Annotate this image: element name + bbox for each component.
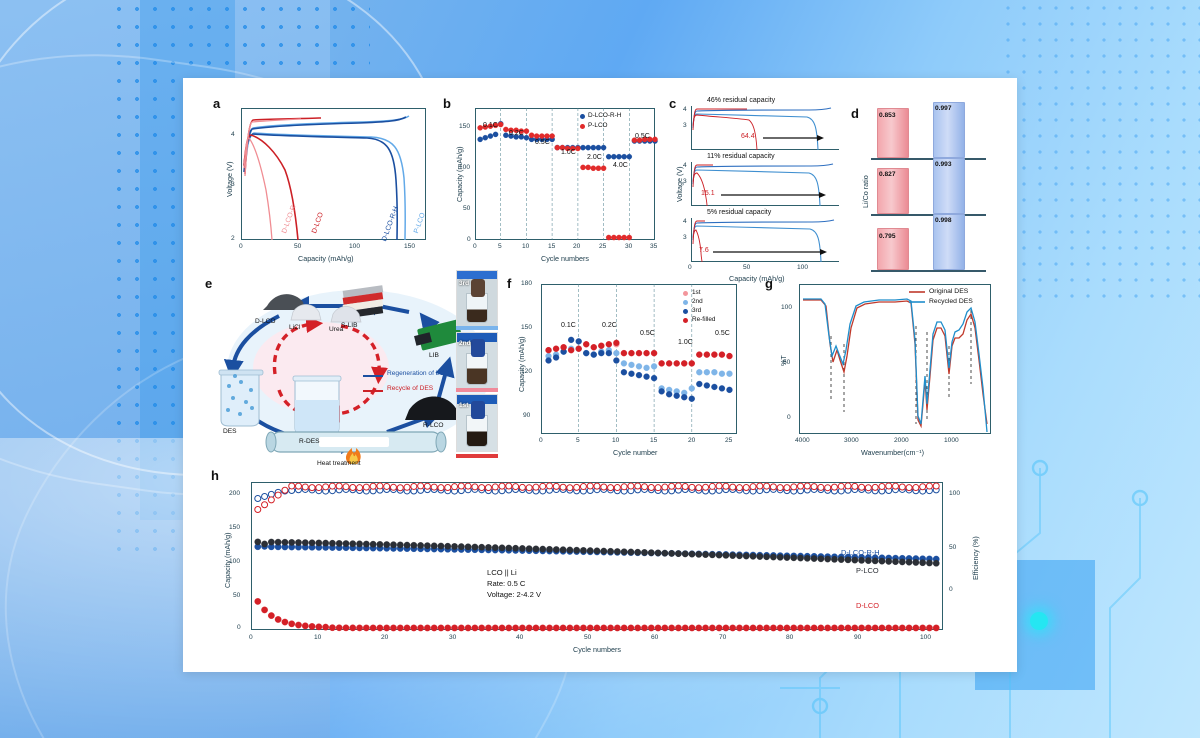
panel-d-bar-blue-1-value: 0.997 bbox=[935, 105, 952, 112]
panel-e-legend-line-regeneration bbox=[363, 375, 383, 377]
panel-h-label: h bbox=[211, 468, 219, 483]
panel-g-label: g bbox=[765, 276, 773, 291]
panel-c-xtick-50: 50 bbox=[743, 264, 750, 271]
panel-b-rate-4.0C: 4.0C bbox=[613, 162, 628, 169]
panel-e-node-s-lib: S-LIB bbox=[341, 322, 358, 329]
panel-f-rate-0.2C: 0.2C bbox=[602, 322, 617, 329]
panel-e-legend-regeneration: Regeneration of LCO bbox=[387, 370, 449, 377]
panel-h-series-label-d-lco-r-h: D-LCO-R-H bbox=[841, 548, 880, 557]
panel-d-label: d bbox=[851, 106, 859, 121]
panel-a: a 4 3 2 0 50 100 150 Capacity (mAh/g) Vo… bbox=[201, 92, 441, 272]
panel-b-xtick-25: 25 bbox=[599, 243, 606, 250]
panel-f-xtick-25: 25 bbox=[725, 437, 732, 444]
panel-e-heat-treatment-label: Heat treatment bbox=[317, 460, 361, 467]
panel-h-ytick-right-50: 50 bbox=[949, 544, 956, 551]
panel-f-legend-dot-1st bbox=[683, 291, 688, 296]
panel-c-sub1-ytick-3: 3 bbox=[683, 122, 687, 129]
panel-c-sub3-annotation: 5% residual capacity bbox=[707, 209, 771, 216]
panel-d-row1-baseline bbox=[871, 158, 986, 160]
panel-c-sub1-value: 64.4 bbox=[741, 133, 755, 140]
panel-b-plot bbox=[475, 108, 655, 240]
photo-vial-3rd bbox=[456, 270, 498, 328]
panel-d-bar-blue-2-value: 0.993 bbox=[935, 161, 952, 168]
panel-h-annotation-cell: LCO || Li bbox=[487, 568, 517, 577]
panel-f-legend-3rd: 3rd bbox=[692, 307, 701, 314]
panel-c-yaxis-label: Voltage (V) bbox=[675, 166, 684, 202]
panel-b-label: b bbox=[443, 96, 451, 111]
panel-d-bar-red-1-value: 0.853 bbox=[879, 112, 896, 119]
photo-vial-2nd-tag: 2nd bbox=[459, 340, 471, 347]
panel-f-legend-2nd: 2nd bbox=[692, 298, 703, 305]
panel-c-sub3-value: 7.6 bbox=[699, 247, 709, 254]
panel-g-plot bbox=[799, 284, 991, 434]
panel-b-xtick-15: 15 bbox=[548, 243, 555, 250]
panel-g-xtick-1000: 1000 bbox=[944, 437, 959, 444]
panel-b-legend-p-lco: P-LCO bbox=[588, 122, 608, 129]
panel-h-ytick-right-100: 100 bbox=[949, 490, 960, 497]
panel-h-ytick-50: 50 bbox=[233, 592, 240, 599]
panel-b-xtick-35: 35 bbox=[650, 243, 657, 250]
photo-strip-accent-blue bbox=[456, 326, 498, 330]
panel-b-xtick-5: 5 bbox=[498, 243, 502, 250]
panel-h-xtick-80: 80 bbox=[786, 634, 793, 641]
panel-b-yaxis-label: Capacity (mAh/g) bbox=[455, 146, 464, 202]
panel-c-label: c bbox=[669, 96, 676, 111]
panel-a-ytick-4: 4 bbox=[231, 131, 235, 138]
panel-f-ytick-180: 180 bbox=[521, 280, 532, 287]
panel-e-node-des: DES bbox=[223, 428, 237, 435]
panel-h-yaxis-right-label: Efficiency (%) bbox=[971, 536, 980, 580]
panel-f-xtick-20: 20 bbox=[688, 437, 695, 444]
panel-f-xtick-5: 5 bbox=[576, 437, 580, 444]
panel-d-row3-baseline bbox=[871, 270, 986, 272]
panel-a-plot bbox=[241, 108, 426, 240]
panel-c-sub2-value: 15.1 bbox=[701, 190, 715, 197]
panel-e-node-r-des: R-DES bbox=[299, 438, 320, 445]
panel-a-xtick-50: 50 bbox=[294, 243, 301, 250]
panel-b-xtick-30: 30 bbox=[625, 243, 632, 250]
panel-c-sub3-curves bbox=[691, 218, 839, 262]
panel-f-rate-1.0C: 1.0C bbox=[678, 339, 693, 346]
panel-h-xtick-0: 0 bbox=[249, 634, 253, 641]
panel-c-sub1-ytick-4: 4 bbox=[683, 106, 687, 113]
panel-h-xtick-90: 90 bbox=[854, 634, 861, 641]
panel-h-ytick-200: 200 bbox=[229, 490, 240, 497]
photo-vial-3rd-tag: 3rd bbox=[459, 280, 469, 287]
panel-b-xtick-10: 10 bbox=[522, 243, 529, 250]
panel-f-plot bbox=[541, 284, 737, 434]
panel-g-xaxis-label: Wavenumber(cm⁻¹) bbox=[861, 448, 924, 457]
panel-a-ytick-2: 2 bbox=[231, 235, 235, 242]
panel-e-photo-strip: 3rd 2nd 1st bbox=[456, 270, 498, 458]
background-glow-node bbox=[1030, 612, 1048, 630]
panel-b-ytick-150: 150 bbox=[459, 123, 470, 130]
panel-h-series-label-d-lco: D-LCO bbox=[856, 601, 879, 610]
panel-b-xtick-20: 20 bbox=[573, 243, 580, 250]
panel-c-sub1-annotation: 46% residual capacity bbox=[707, 97, 775, 104]
panel-e-legend-line-recycle bbox=[363, 390, 383, 392]
panel-e-node-urea: Urea bbox=[329, 326, 343, 333]
panel-f-label: f bbox=[507, 276, 511, 291]
panel-b-rate-0.1C: 0.1C bbox=[483, 122, 498, 129]
panel-h-xtick-60: 60 bbox=[651, 634, 658, 641]
panel-c-subplot-3: 4 3 5% residual capacity 7.6 bbox=[691, 218, 839, 262]
photo-vial-1st-tag: 1st bbox=[459, 402, 468, 409]
panel-h-xtick-30: 30 bbox=[449, 634, 456, 641]
photo-strip-accent-red bbox=[456, 454, 498, 458]
panel-f-xtick-0: 0 bbox=[539, 437, 543, 444]
panel-b-legend-dot-p-lco bbox=[580, 124, 585, 129]
panel-b-rate-0.5C: 0.5C bbox=[535, 139, 550, 146]
panel-f-legend-dot-3rd bbox=[683, 309, 688, 314]
panel-a-xtick-150: 150 bbox=[404, 243, 415, 250]
panel-b-legend-dot-d-lco-r-h bbox=[580, 114, 585, 119]
panel-g-ytick-0: 0 bbox=[787, 414, 791, 421]
panel-b: b 150 100 50 0 0 5 10 15 20 25 30 35 Cyc… bbox=[441, 92, 669, 272]
panel-h-annotation-voltage: Voltage: 2-4.2 V bbox=[487, 590, 541, 599]
figure-sheet: a 4 3 2 0 50 100 150 Capacity (mAh/g) Vo… bbox=[183, 78, 1017, 672]
panel-f: f 180 150 120 90 0 5 10 15 20 25 Cycle n… bbox=[503, 274, 753, 464]
panel-d: d Li/Co ratio 0.853 0.997 0.827 0.993 0.… bbox=[845, 92, 1010, 272]
panel-a-label: a bbox=[213, 96, 220, 111]
panel-f-yaxis-label: Capacity (mAh/g) bbox=[517, 336, 526, 392]
panel-b-rate-2.0C: 2.0C bbox=[587, 154, 602, 161]
panel-h-plot bbox=[251, 482, 943, 630]
panel-f-legend-refilled: Re-filled bbox=[692, 316, 715, 323]
panel-a-xaxis-label: Capacity (mAh/g) bbox=[298, 254, 354, 263]
panel-h-series-label-p-lco: P-LCO bbox=[856, 566, 879, 575]
panel-e-node-d-lco: D-LCO bbox=[255, 318, 276, 325]
panel-e-node-r-lco: R-LCO bbox=[423, 422, 444, 429]
panel-g-legend-original-des: Original DES bbox=[929, 288, 968, 295]
panel-b-rate-1.0C: 1.0C bbox=[561, 149, 576, 156]
panel-a-xtick-0: 0 bbox=[239, 243, 243, 250]
panel-f-xtick-10: 10 bbox=[612, 437, 619, 444]
panel-d-bar-blue-3-value: 0.998 bbox=[935, 217, 952, 224]
panel-h-xtick-40: 40 bbox=[516, 634, 523, 641]
panel-g-xtick-3000: 3000 bbox=[844, 437, 859, 444]
panel-c: c 4 3 46% residual capacity 64.4 bbox=[669, 92, 845, 272]
panel-h: h 200 150 100 50 0 100 50 0 0 10 20 30 4… bbox=[201, 468, 1001, 668]
panel-h-yaxis-label: Capacity (mAh/g) bbox=[223, 532, 232, 588]
panel-c-subplot-1: 4 3 46% residual capacity 64.4 bbox=[691, 106, 839, 150]
panel-g-yaxis-label: %T bbox=[779, 355, 788, 366]
panel-a-xtick-100: 100 bbox=[349, 243, 360, 250]
panel-h-xtick-70: 70 bbox=[719, 634, 726, 641]
panel-g-xtick-2000: 2000 bbox=[894, 437, 909, 444]
panel-a-yaxis-label: Voltage (V) bbox=[225, 161, 234, 197]
panel-d-row2-baseline bbox=[871, 214, 986, 216]
panel-d-bar-red-3-value: 0.795 bbox=[879, 233, 896, 240]
panel-b-ytick-50: 50 bbox=[463, 205, 470, 212]
panel-g-legend-recycled-des: Recycled DES bbox=[929, 298, 973, 305]
panel-h-xtick-100: 100 bbox=[920, 634, 931, 641]
panel-c-sub3-ytick-3: 3 bbox=[683, 234, 687, 241]
panel-h-xtick-20: 20 bbox=[381, 634, 388, 641]
panel-c-sub2-annotation: 11% residual capacity bbox=[707, 153, 775, 160]
panel-b-xtick-0: 0 bbox=[473, 243, 477, 250]
panel-e-node-lib: LIB bbox=[429, 352, 439, 359]
panel-h-annotation-rate: Rate: 0.5 C bbox=[487, 579, 525, 588]
panel-h-ytick-0: 0 bbox=[237, 624, 241, 631]
panel-g-ytick-100: 100 bbox=[781, 304, 792, 311]
panel-f-rate-0.5C: 0.5C bbox=[640, 330, 655, 337]
panel-h-ytick-150: 150 bbox=[229, 524, 240, 531]
panel-e-node-licl: LiCl bbox=[289, 324, 300, 331]
panel-c-xtick-0: 0 bbox=[688, 264, 692, 271]
panel-c-sub1-curves bbox=[691, 106, 839, 150]
panel-c-sub3-ytick-4: 4 bbox=[683, 218, 687, 225]
panel-h-xtick-50: 50 bbox=[584, 634, 591, 641]
panel-f-xtick-15: 15 bbox=[650, 437, 657, 444]
panel-f-legend-dot-refilled bbox=[683, 318, 688, 323]
panel-b-legend-d-lco-r-h: D-LCO-R-H bbox=[588, 112, 621, 119]
panel-c-sub2-curves bbox=[691, 162, 839, 206]
panel-b-rate-0.2C: 0.2C bbox=[509, 130, 524, 137]
panel-g-xtick-4000: 4000 bbox=[795, 437, 810, 444]
panel-f-legend-dot-2nd bbox=[683, 300, 688, 305]
panel-b-rate-0.5C-2: 0.5C bbox=[635, 133, 650, 140]
panel-d-bar-red-2-value: 0.827 bbox=[879, 171, 896, 178]
panel-f-ytick-90: 90 bbox=[523, 412, 530, 419]
panel-c-xtick-100: 100 bbox=[797, 264, 808, 271]
panel-d-yaxis-label: Li/Co ratio bbox=[861, 175, 870, 208]
panel-f-rate-0.5C-2: 0.5C bbox=[715, 330, 730, 337]
photo-strip-accent-pink bbox=[456, 388, 498, 392]
panel-g: g Original DES Recycled DES 100 50 0 bbox=[761, 274, 1006, 464]
background-dot-pattern-right bbox=[1000, 0, 1200, 300]
panel-h-ytick-right-0: 0 bbox=[949, 586, 953, 593]
panel-c-subplot-2: 4 3 11% residual capacity 15.1 bbox=[691, 162, 839, 206]
panel-f-rate-0.1C: 0.1C bbox=[561, 322, 576, 329]
panel-f-xaxis-label: Cycle number bbox=[613, 448, 657, 457]
panel-f-legend-1st: 1st bbox=[692, 289, 701, 296]
panel-h-xtick-10: 10 bbox=[314, 634, 321, 641]
panel-h-xaxis-label: Cycle numbers bbox=[573, 645, 621, 654]
panel-e-legend-recycle: Recycle of DES bbox=[387, 385, 433, 392]
panel-f-ytick-150: 150 bbox=[521, 324, 532, 331]
panel-b-ytick-0: 0 bbox=[467, 236, 471, 243]
panel-b-xaxis-label: Cycle numbers bbox=[541, 254, 589, 263]
